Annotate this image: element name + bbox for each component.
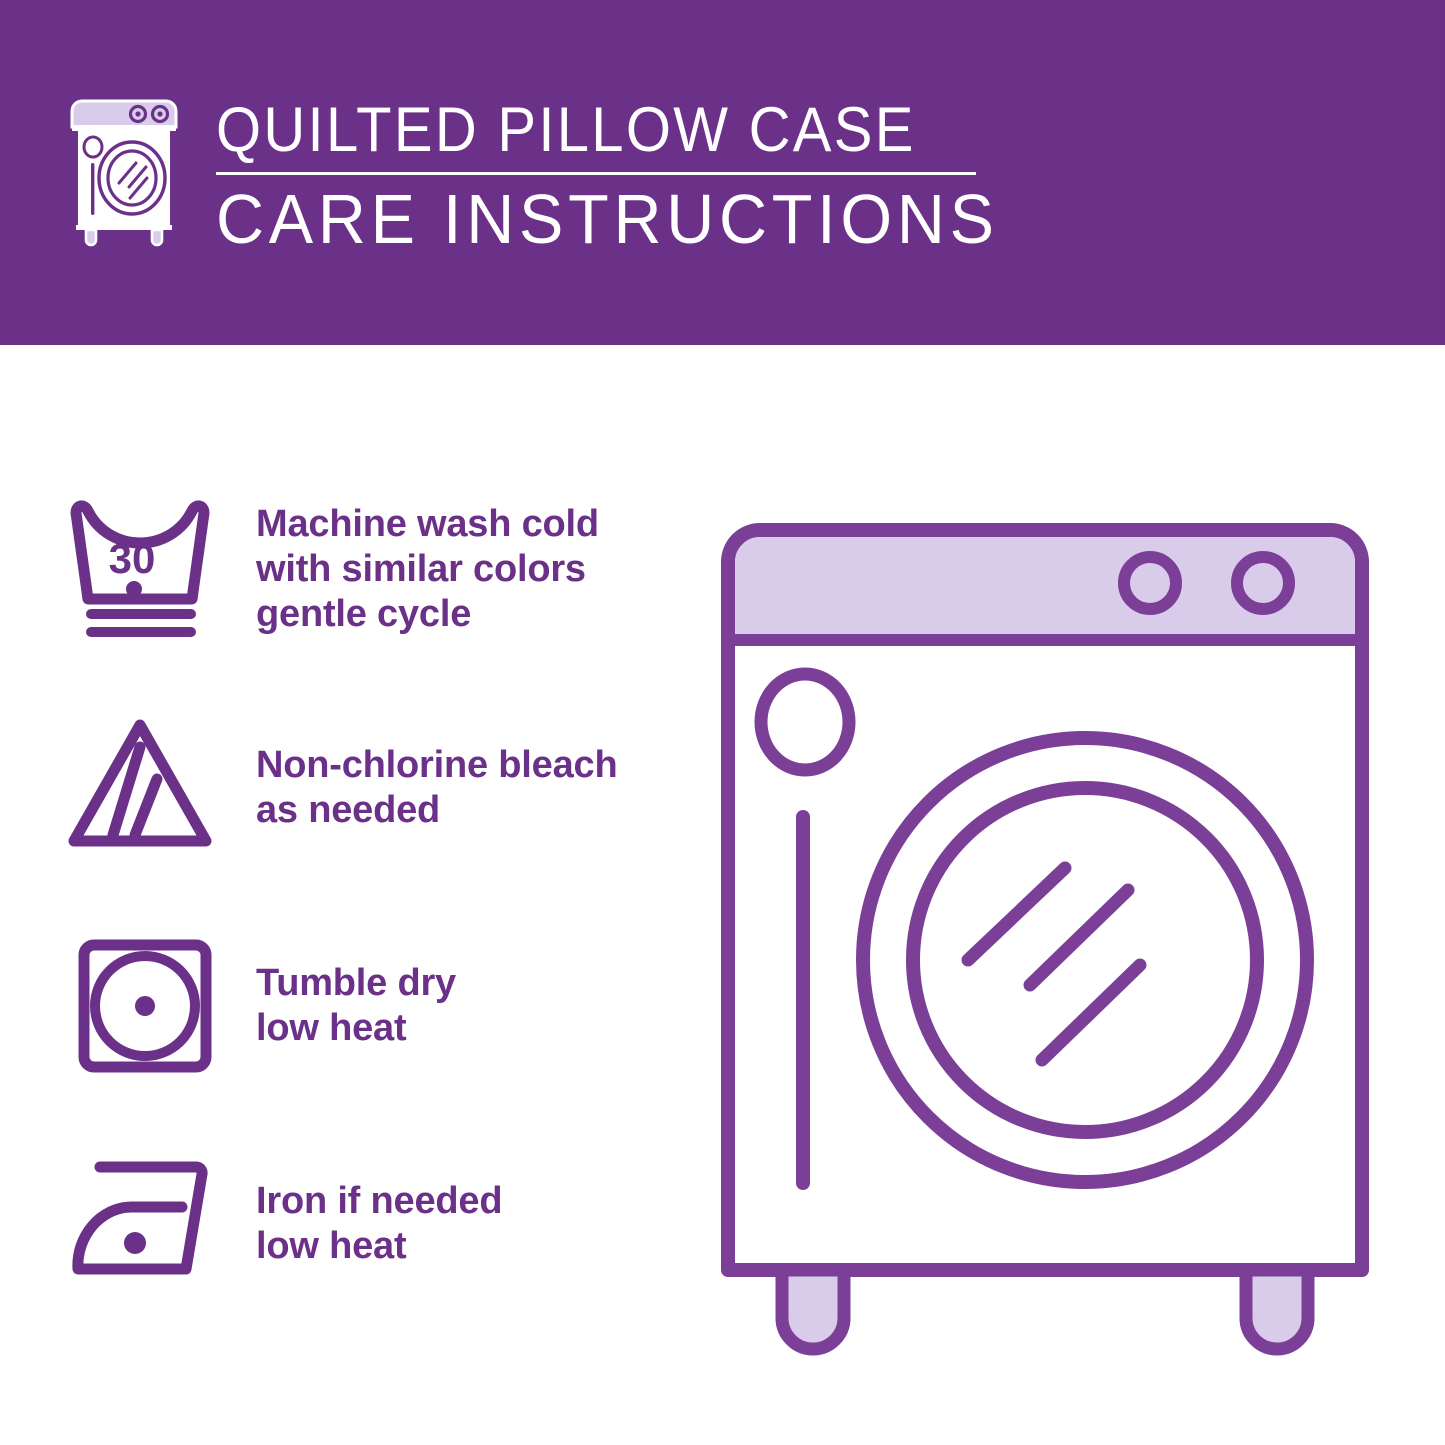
washing-machine-icon: [60, 97, 188, 249]
care-label-machine-wash: Machine wash cold with similar colors ge…: [256, 502, 702, 637]
wash-temp-value: 30: [109, 535, 156, 582]
leg-right: [1246, 1270, 1308, 1349]
care-row-machine-wash: 30 Machine wash cold with similar colors…: [62, 488, 702, 651]
page-title: QUILTED PILLOW CASE: [216, 97, 992, 163]
care-label-line: low heat: [256, 1006, 702, 1051]
care-label-line: as needed: [256, 788, 702, 833]
care-instructions-infographic: QUILTED PILLOW CASE CARE INSTRUCTIONS 30: [0, 0, 1445, 1445]
vertical-indicator-bar: [796, 810, 810, 1190]
page-subtitle: CARE INSTRUCTIONS: [216, 181, 1018, 257]
leg-left: [782, 1270, 844, 1349]
dial-right[interactable]: [1237, 557, 1289, 609]
header-band: QUILTED PILLOW CASE CARE INSTRUCTIONS: [0, 0, 1445, 345]
tumble-dry-low-heat-icon: [62, 926, 237, 1086]
wash-tub-30-one-dot-two-bars-icon: 30: [62, 490, 237, 650]
care-label-tumble-dry: Tumble dry low heat: [256, 961, 702, 1051]
dial-left[interactable]: [1124, 557, 1176, 609]
header-title-block: QUILTED PILLOW CASE CARE INSTRUCTIONS: [216, 95, 1060, 257]
care-label-bleach: Non-chlorine bleach as needed: [256, 743, 702, 833]
care-label-line: Tumble dry: [256, 961, 702, 1006]
care-row-iron: Iron if needed low heat: [62, 1142, 702, 1305]
non-chlorine-bleach-triangle-icon: [62, 708, 237, 868]
care-row-tumble-dry: Tumble dry low heat: [62, 924, 702, 1087]
care-label-line: Machine wash cold: [256, 502, 702, 547]
front-load-washing-machine-illustration: [720, 470, 1410, 1370]
iron-low-heat-icon: [62, 1144, 237, 1304]
care-label-line: gentle cycle: [256, 592, 702, 637]
care-label-line: Iron if needed: [256, 1179, 702, 1224]
title-divider: [216, 172, 976, 175]
care-label-line: low heat: [256, 1224, 702, 1269]
care-label-iron: Iron if needed low heat: [256, 1179, 702, 1269]
care-row-bleach: Non-chlorine bleach as needed: [62, 706, 702, 869]
header-content: QUILTED PILLOW CASE CARE INSTRUCTIONS: [60, 95, 1060, 260]
care-label-line: Non-chlorine bleach: [256, 743, 702, 788]
care-instruction-list: 30 Machine wash cold with similar colors…: [62, 488, 702, 1360]
care-label-line: with similar colors: [256, 547, 702, 592]
